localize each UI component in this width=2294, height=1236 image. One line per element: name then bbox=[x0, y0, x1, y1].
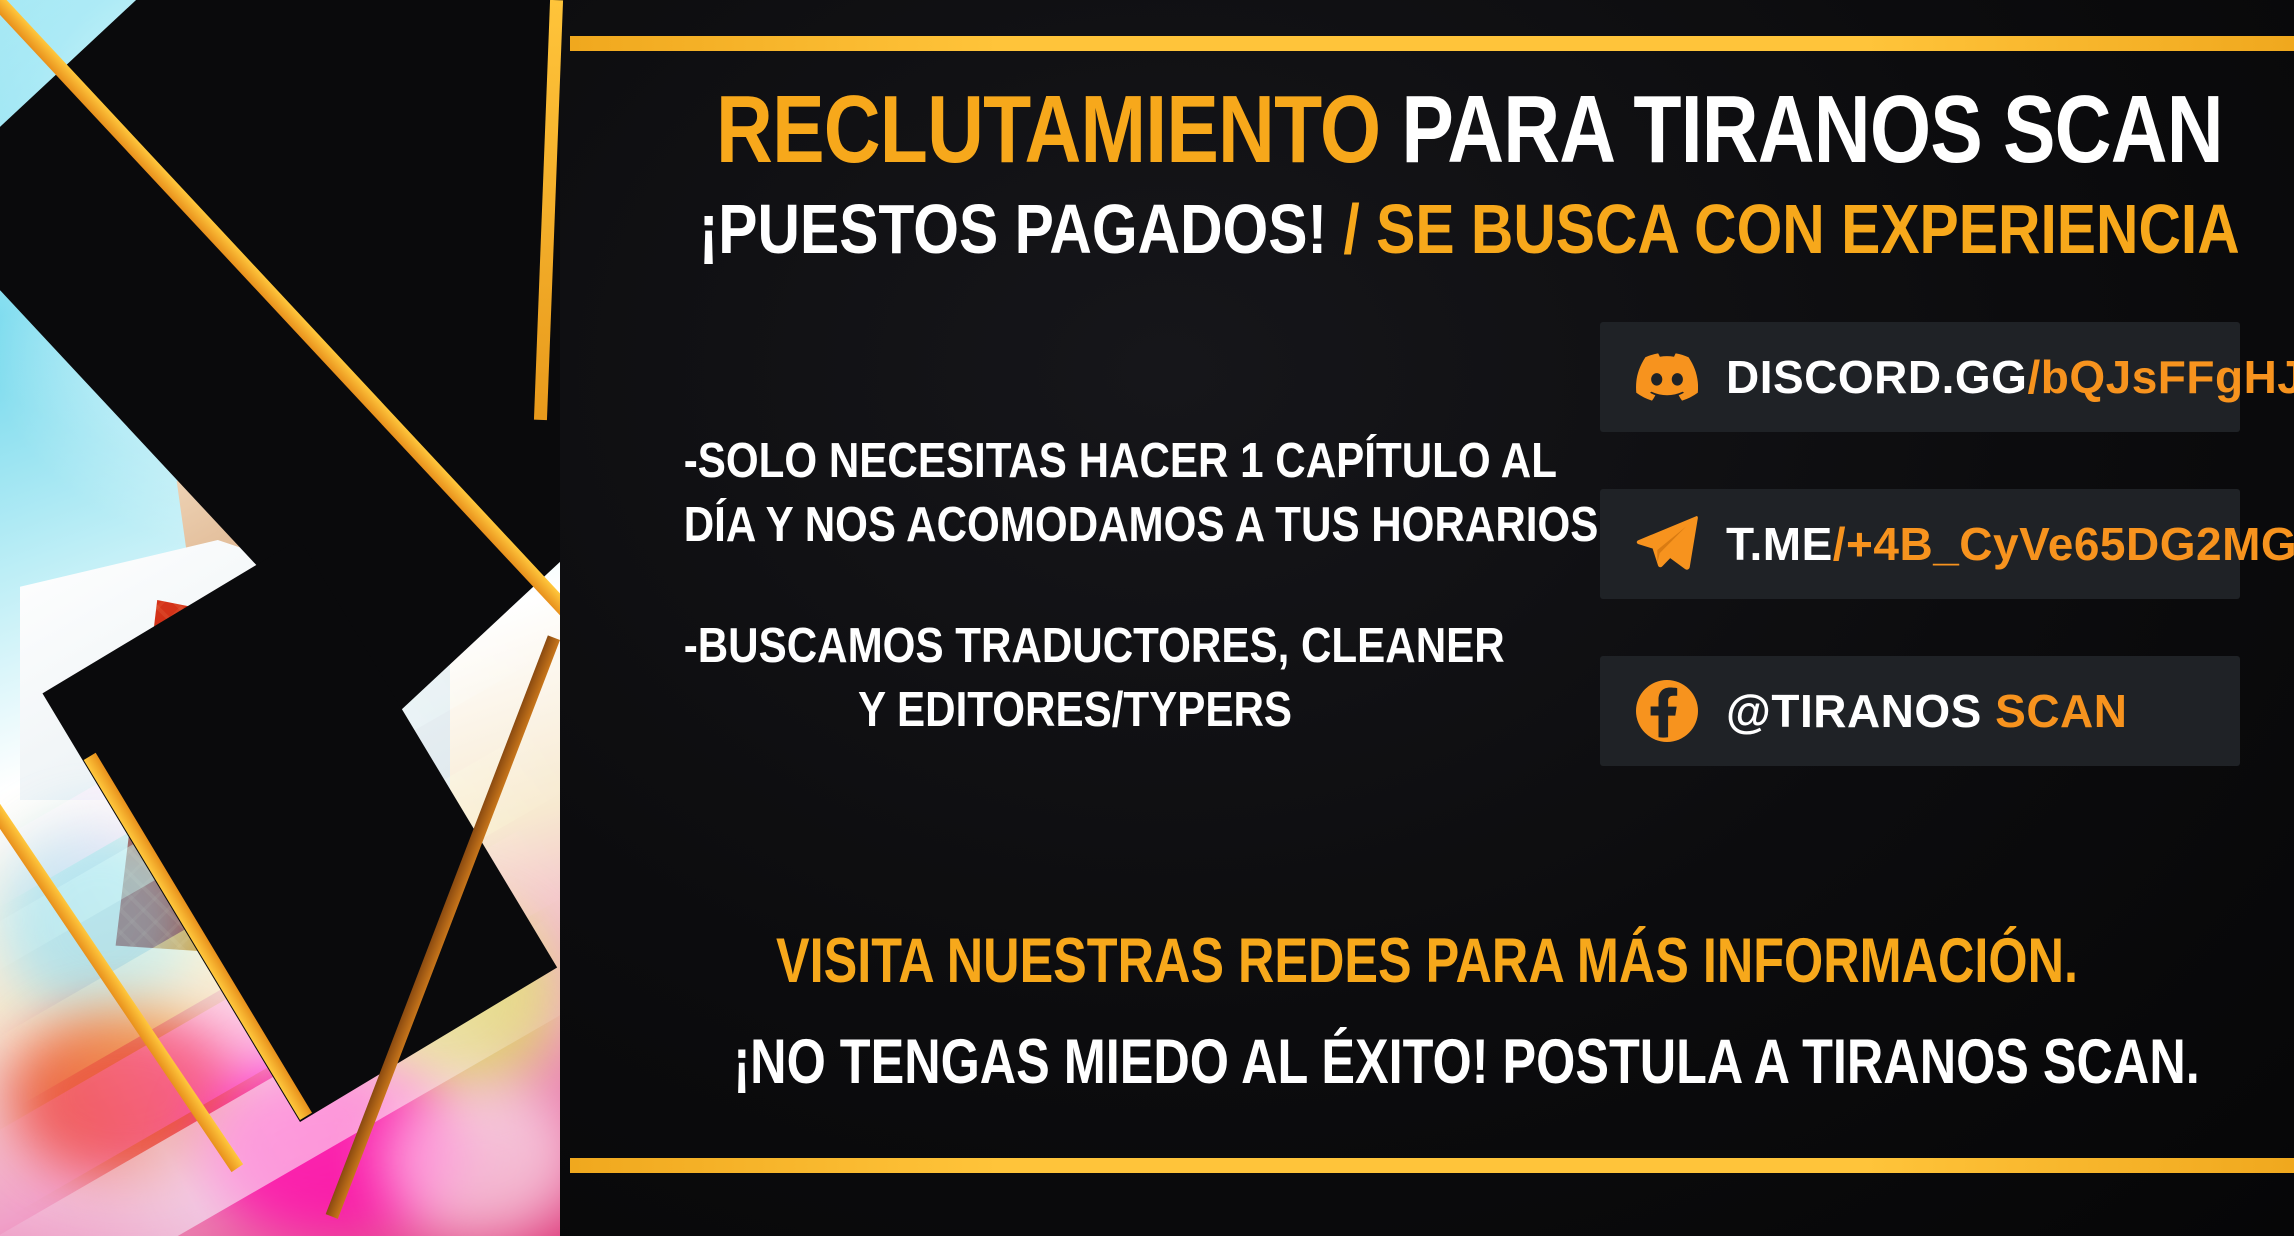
contact-row-facebook[interactable]: @TIRANOS SCAN bbox=[1600, 656, 2240, 766]
facebook-handle-suffix: SCAN bbox=[1995, 685, 2127, 737]
requirements-text-block: -SOLO NECESITAS HACER 1 CAPÍTULO AL DÍA … bbox=[620, 430, 1530, 743]
telegram-invite-code: /+4B_CyVe65DG2MGJH bbox=[1833, 518, 2294, 570]
text-spacer bbox=[620, 557, 1530, 615]
heading-se-busca-experiencia: / SE BUSCA CON EXPERIENCIA bbox=[1343, 190, 2239, 268]
gold-rule-bottom bbox=[570, 1158, 2294, 1173]
contact-label-facebook: @TIRANOS SCAN bbox=[1726, 684, 2127, 738]
requirement-2-line-2: Y EDITORES/TYPERS bbox=[684, 679, 1467, 743]
heading-para-tiranos-scan: PARA TIRANOS SCAN bbox=[1401, 76, 2222, 183]
requirement-1-line-1: -SOLO NECESITAS HACER 1 CAPÍTULO AL bbox=[684, 430, 1467, 494]
content-panel: RECLUTAMIENTO PARA TIRANOS SCAN ¡PUESTOS… bbox=[560, 0, 2294, 1236]
telegram-icon bbox=[1634, 511, 1700, 577]
discord-domain: DISCORD.GG bbox=[1726, 351, 2027, 403]
heading-reclutamiento: RECLUTAMIENTO bbox=[716, 76, 1380, 183]
contact-links-list: DISCORD.GG/bQJsFFgHJd T.ME/+4B_CyVe65DG2… bbox=[1600, 322, 2240, 823]
telegram-domain: T.ME bbox=[1726, 518, 1833, 570]
heading-line-2: ¡PUESTOS PAGADOS! / SE BUSCA CON EXPERIE… bbox=[699, 194, 2156, 264]
cta-line-1: VISITA NUESTRAS REDES PARA MÁS INFORMACI… bbox=[733, 930, 2120, 993]
recruitment-banner: RECLUTAMIENTO PARA TIRANOS SCAN ¡PUESTOS… bbox=[0, 0, 2294, 1236]
requirement-2-line-1: -BUSCAMOS TRADUCTORES, CLEANER bbox=[684, 615, 1467, 679]
discord-icon bbox=[1634, 344, 1700, 410]
artwork-illustration bbox=[0, 0, 560, 1236]
call-to-action-block: VISITA NUESTRAS REDES PARA MÁS INFORMACI… bbox=[560, 930, 2294, 1094]
requirement-1-line-2: DÍA Y NOS ACOMODAMOS A TUS HORARIOS bbox=[684, 494, 1467, 558]
contact-label-telegram: T.ME/+4B_CyVe65DG2MGJH bbox=[1726, 517, 2294, 571]
facebook-handle: @TIRANOS bbox=[1726, 685, 1982, 737]
cta-line-2: ¡NO TENGAS MIEDO AL ÉXITO! POSTULA A TIR… bbox=[733, 1031, 2120, 1094]
contact-row-telegram[interactable]: T.ME/+4B_CyVe65DG2MGJH bbox=[1600, 489, 2240, 599]
banner-heading: RECLUTAMIENTO PARA TIRANOS SCAN ¡PUESTOS… bbox=[560, 82, 2294, 264]
contact-label-discord: DISCORD.GG/bQJsFFgHJd bbox=[1726, 350, 2294, 404]
gold-rule-top bbox=[570, 36, 2294, 51]
facebook-icon bbox=[1634, 678, 1700, 744]
contact-row-discord[interactable]: DISCORD.GG/bQJsFFgHJd bbox=[1600, 322, 2240, 432]
heading-line-1: RECLUTAMIENTO PARA TIRANOS SCAN bbox=[716, 82, 2138, 178]
heading-puestos-pagados: ¡PUESTOS PAGADOS! bbox=[699, 190, 1327, 268]
discord-invite-code: /bQJsFFgHJd bbox=[2027, 351, 2294, 403]
